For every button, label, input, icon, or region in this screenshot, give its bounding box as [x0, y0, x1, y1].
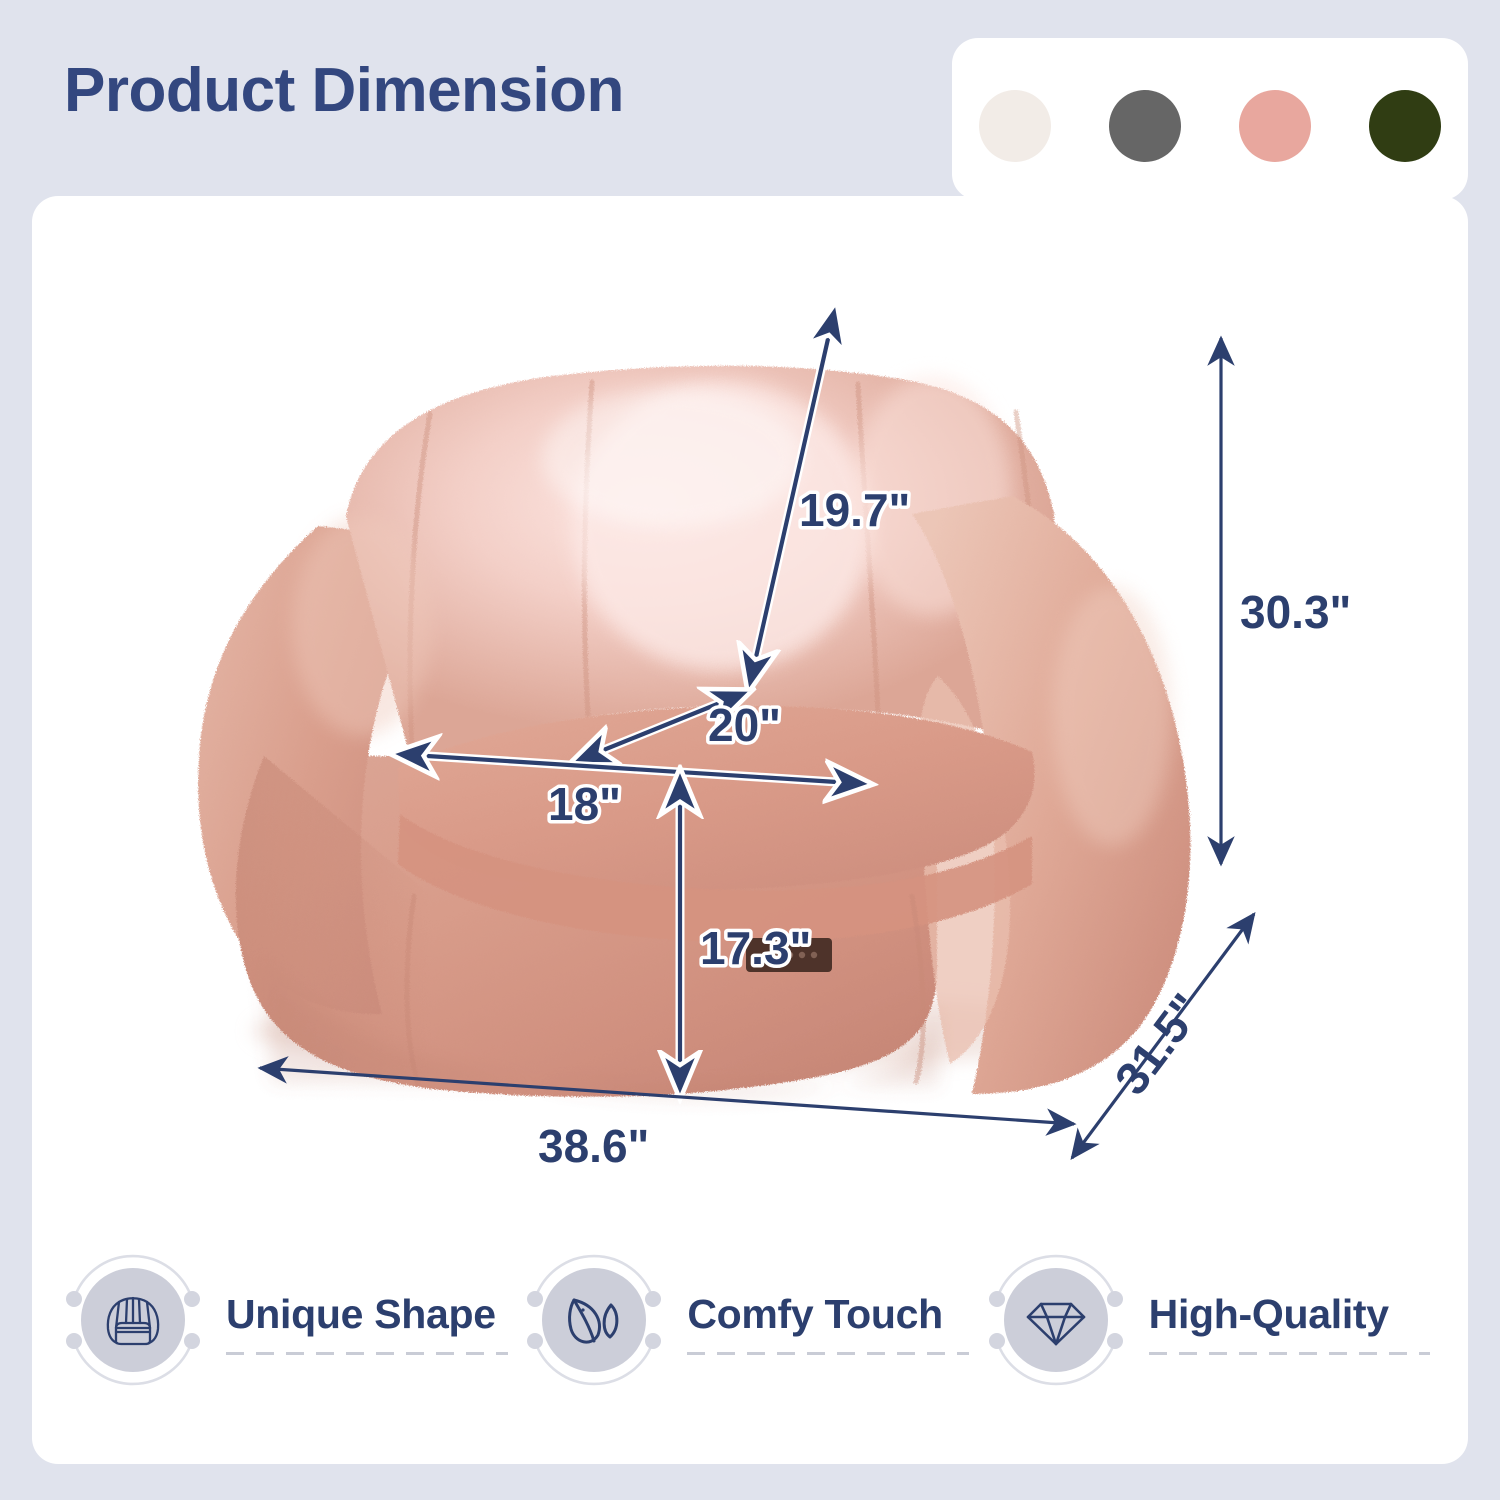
- leaves-icon: [559, 1285, 629, 1355]
- bean-bag-chair-image: [32, 196, 1468, 1236]
- swatch-gray[interactable]: [1109, 90, 1181, 162]
- color-swatch-row: [952, 38, 1468, 200]
- diamond-icon: [1021, 1285, 1091, 1355]
- armchair-icon: [98, 1285, 168, 1355]
- swatch-pink[interactable]: [1239, 90, 1311, 162]
- feature-divider-high-quality: [1149, 1352, 1431, 1355]
- swatch-ivory[interactable]: [979, 90, 1051, 162]
- feature-text-unique-shape: Unique Shape: [226, 1285, 519, 1355]
- feature-divider-comfy-touch: [687, 1352, 969, 1355]
- color-swatch-card: [952, 38, 1468, 200]
- feature-label-unique-shape: Unique Shape: [226, 1291, 519, 1338]
- brand-tag: [746, 938, 832, 972]
- swatch-green[interactable]: [1369, 90, 1441, 162]
- product-dimension-card: 19.7" 20" 18" 17.3": [32, 196, 1468, 1464]
- feature-comfy-touch[interactable]: Comfy Touch: [519, 1241, 980, 1395]
- feature-icon-wrap-high-quality: [981, 1245, 1131, 1395]
- feature-disc-comfy-touch: [542, 1268, 646, 1372]
- chair-illustration-stage: 19.7" 20" 18" 17.3": [32, 196, 1468, 1236]
- feature-disc-high-quality: [1004, 1268, 1108, 1372]
- page-title: Product Dimension: [64, 58, 624, 123]
- feature-icon-wrap-unique-shape: [58, 1245, 208, 1395]
- feature-text-high-quality: High-Quality: [1149, 1285, 1442, 1355]
- feature-text-comfy-touch: Comfy Touch: [687, 1285, 980, 1355]
- infographic-canvas: Product Dimension: [0, 0, 1500, 1500]
- feature-icon-wrap-comfy-touch: [519, 1245, 669, 1395]
- feature-disc-unique-shape: [81, 1268, 185, 1372]
- feature-high-quality[interactable]: High-Quality: [981, 1241, 1442, 1395]
- feature-label-high-quality: High-Quality: [1149, 1291, 1442, 1338]
- feature-badge-row: Unique Shape: [32, 1241, 1468, 1441]
- feature-label-comfy-touch: Comfy Touch: [687, 1291, 980, 1338]
- feature-unique-shape[interactable]: Unique Shape: [58, 1241, 519, 1395]
- feature-divider-unique-shape: [226, 1352, 508, 1355]
